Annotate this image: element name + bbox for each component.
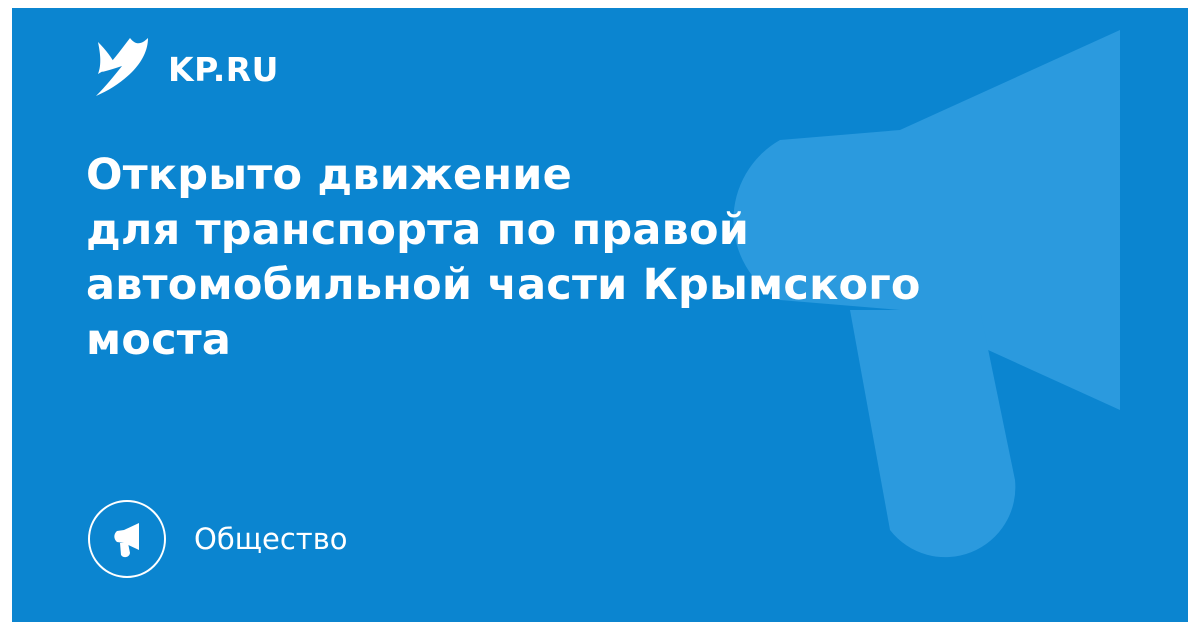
frame-border-left [0,0,12,630]
site-header: KP.RU [88,36,279,102]
frame-border-right [1188,0,1200,630]
page-title: Открыто движение для транспорта по право… [86,148,1076,368]
frame-border-top [0,0,1200,8]
bird-logo-icon [88,36,150,102]
frame-border-bottom [0,622,1200,630]
article-share-card: KP.RU Открыто движение для транспорта по… [0,0,1200,630]
category-row: Общество [88,500,348,578]
megaphone-icon [88,500,166,578]
category-label: Общество [194,525,348,554]
brand-wordmark: KP.RU [168,53,279,86]
